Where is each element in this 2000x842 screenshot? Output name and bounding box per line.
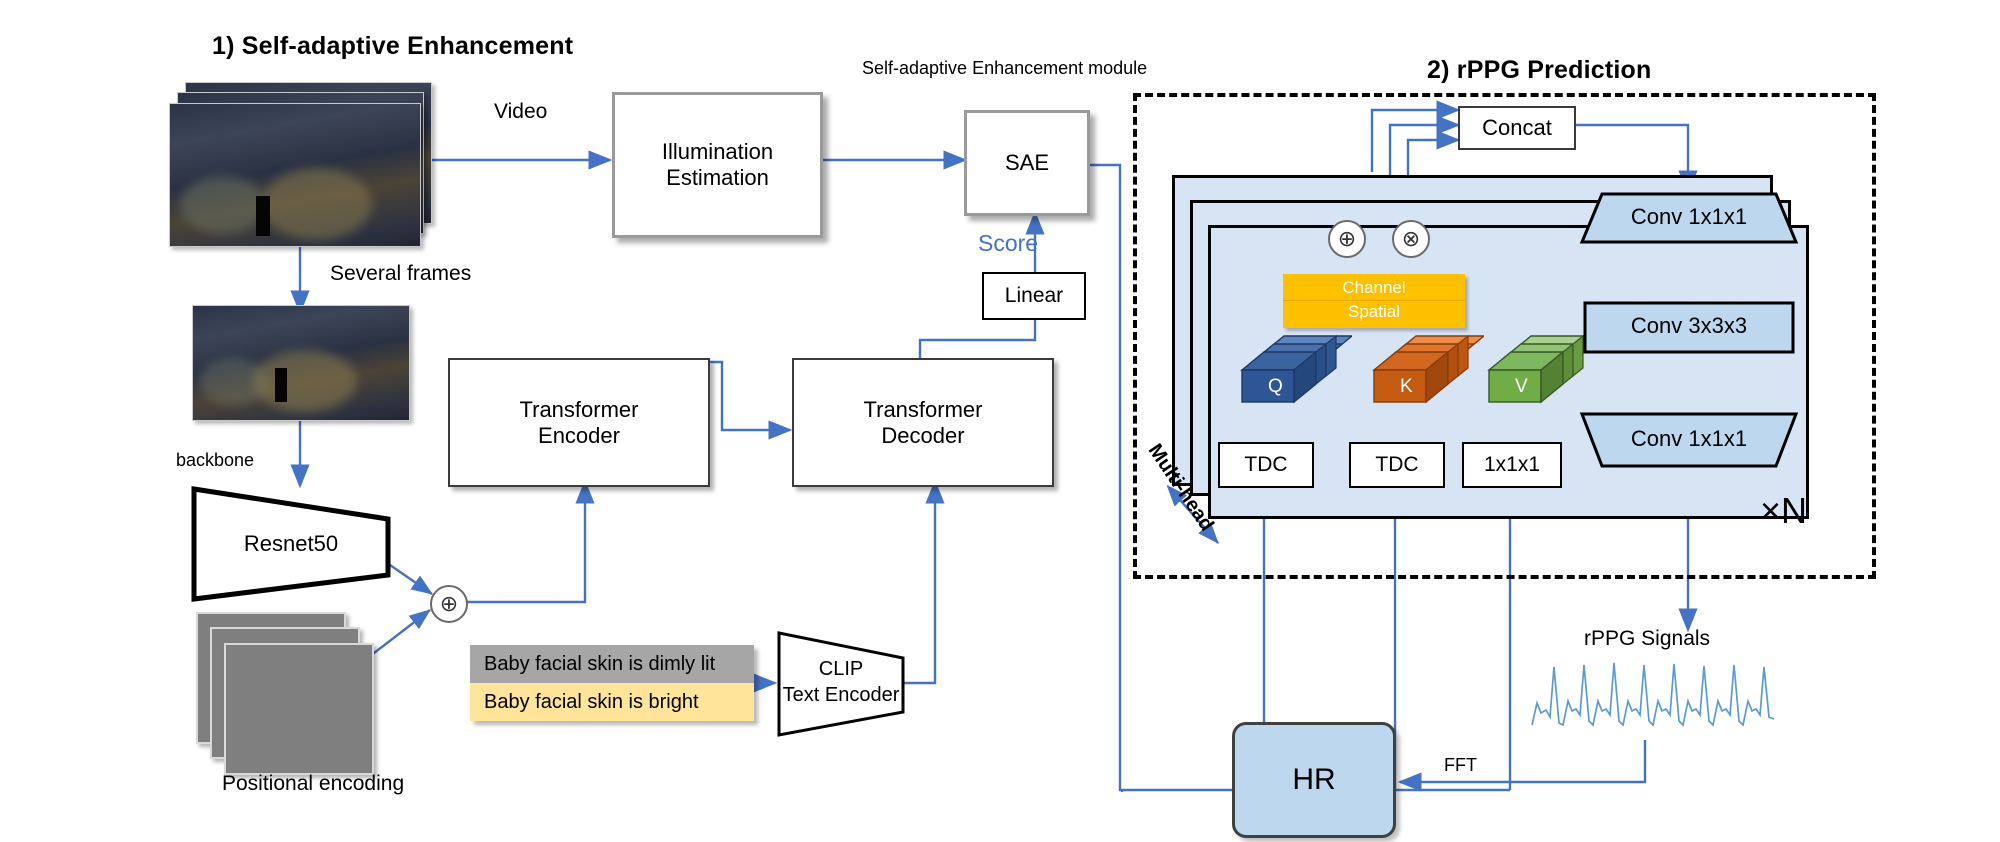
section-title-right: 2) rPPG Prediction [1427,56,1652,85]
branch-box-conv-v[interactable]: 1x1x1 [1462,442,1562,488]
hr-label: HR [1292,762,1335,797]
encoder-line-2: Encoder [520,423,639,449]
transformer-decoder-box[interactable]: Transformer Decoder [792,358,1054,487]
sae-module-caption: Self-adaptive Enhancement module [862,58,1147,79]
branch-box-label-0: TDC [1244,453,1287,478]
illumination-line-1: Illumination [662,139,773,165]
single-frame-photo [192,305,410,421]
clip-line-2: Text Encoder [776,684,906,707]
k-cube: K [1372,332,1484,409]
rppg-waveform [1530,655,1780,744]
transformer-encoder-box[interactable]: Transformer Encoder [448,358,710,487]
conv-1x1x1-bottom-shape[interactable]: Conv 1x1x1 [1578,412,1800,468]
video-label: Video [494,100,547,124]
conv-3x3x3-shape[interactable]: Conv 3x3x3 [1582,300,1796,355]
channel-label: Channel [1283,274,1465,300]
video-frame-1 [169,103,421,247]
section-title-left: 1) Self-adaptive Enhancement [212,32,573,61]
resnet50-label: Resnet50 [190,531,392,557]
svg-text:V: V [1515,376,1528,397]
prompt-row-dimly-lit[interactable]: Baby facial skin is dimly lit [470,645,754,683]
spatial-label: Spatial [1283,301,1465,324]
encoder-line-1: Transformer [520,397,639,423]
conv-label-2: Conv 1x1x1 [1578,426,1800,452]
positional-encoding-label: Positional encoding [222,772,404,796]
hr-box[interactable]: HR [1232,722,1396,838]
svg-text:K: K [1400,376,1413,397]
channel-spatial-box[interactable]: Channel Spatial [1283,274,1465,328]
plus-symbol-attention: ⊕ [1338,226,1356,252]
linear-label: Linear [1005,284,1063,309]
decoder-line-2: Decoder [864,423,983,449]
sae-box[interactable]: SAE [964,110,1090,216]
attention-add-operator: ⊕ [1328,220,1366,258]
conv-1x1x1-top-shape[interactable]: Conv 1x1x1 [1578,192,1800,244]
sae-label: SAE [1005,150,1049,176]
positional-encoding-card-1 [224,643,374,775]
score-label: Score [978,230,1038,257]
resnet50-shape: Resnet50 [190,485,392,603]
concat-box[interactable]: Concat [1458,106,1576,150]
branch-box-label-1: TDC [1375,453,1418,478]
prompt-text-0: Baby facial skin is dimly lit [484,653,715,676]
branch-box-tdc-k[interactable]: TDC [1349,442,1445,488]
prompt-row-bright[interactable]: Baby facial skin is bright [470,683,754,721]
illumination-estimation-box[interactable]: Illumination Estimation [612,92,823,238]
prompt-text-1: Baby facial skin is bright [484,691,699,714]
conv-label-0: Conv 1x1x1 [1578,204,1800,230]
rppg-signals-label: rPPG Signals [1584,627,1710,651]
plus-symbol: ⊕ [440,591,458,617]
sum-operator-left: ⊕ [430,585,468,623]
multiply-symbol: ⊗ [1402,226,1420,252]
diagram-canvas: 1) Self-adaptive Enhancement Video Sever… [0,0,2000,842]
conv-label-1: Conv 3x3x3 [1582,313,1796,339]
concat-label: Concat [1482,115,1552,141]
illumination-line-2: Estimation [662,165,773,191]
q-cube: Q [1240,332,1352,409]
branch-box-tdc-q[interactable]: TDC [1218,442,1314,488]
linear-box[interactable]: Linear [982,272,1086,320]
fft-label: FFT [1444,755,1477,776]
several-frames-label: Several frames [330,262,471,286]
clip-line-1: CLIP [776,658,906,681]
attention-multiply-operator: ⊗ [1392,220,1430,258]
svg-text:Q: Q [1268,376,1283,397]
decoder-line-1: Transformer [864,397,983,423]
backbone-label: backbone [176,450,254,471]
repeat-n-label: ×N [1760,490,1807,532]
clip-text-encoder-shape[interactable]: CLIP Text Encoder [776,630,906,738]
branch-box-label-2: 1x1x1 [1484,453,1540,478]
